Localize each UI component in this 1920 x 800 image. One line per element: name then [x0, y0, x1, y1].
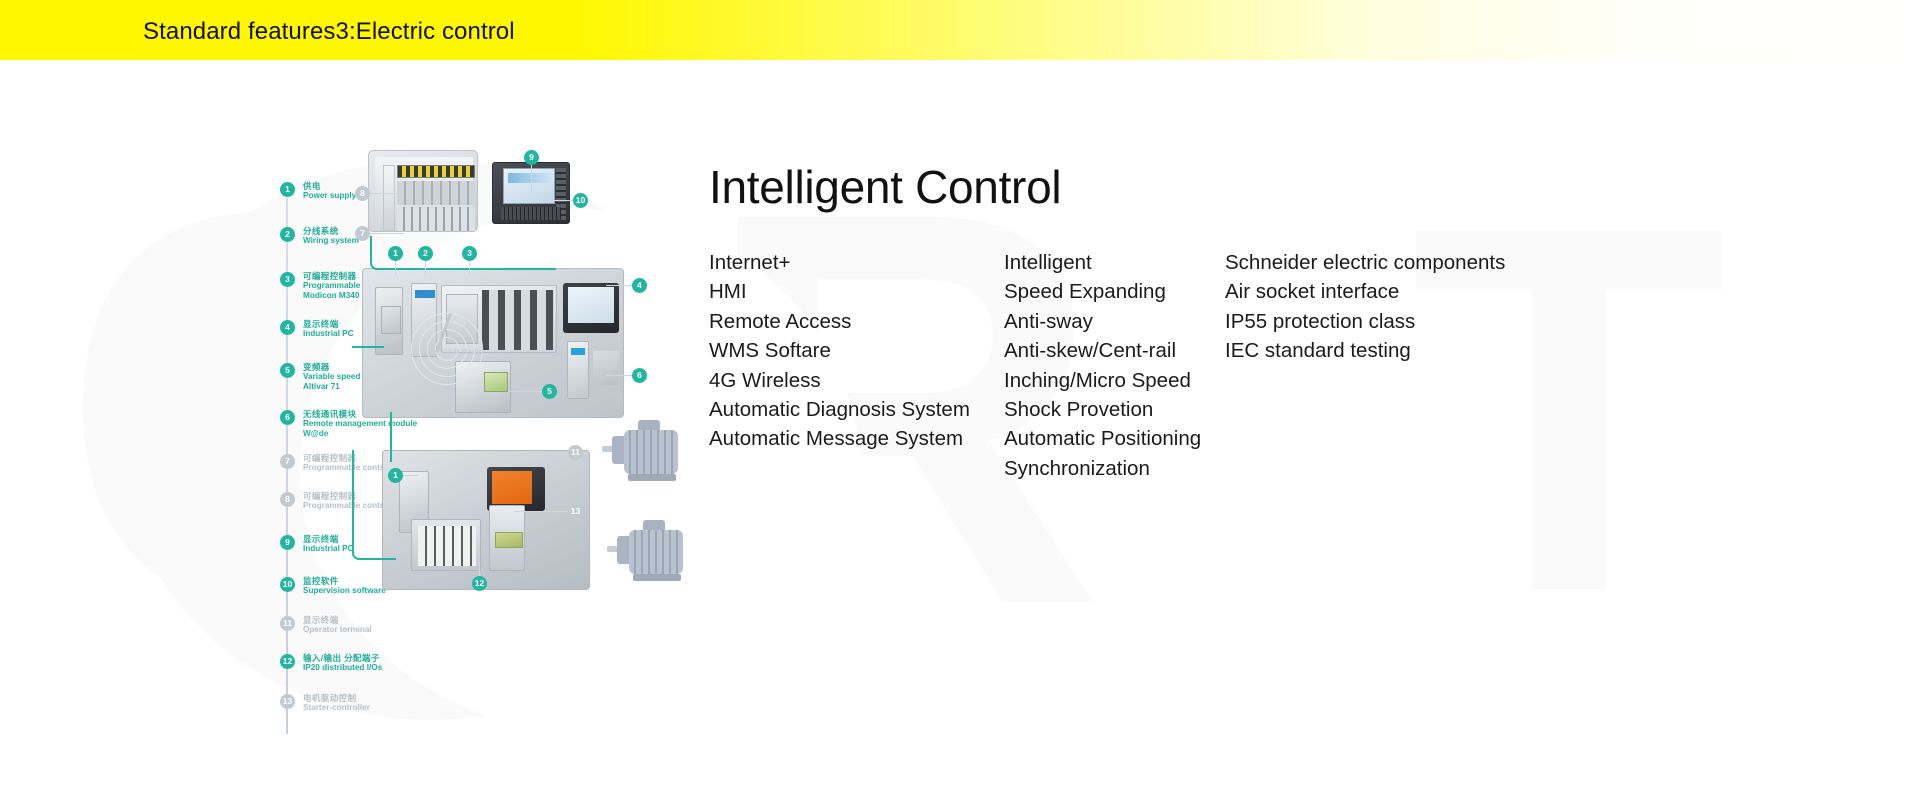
- feature-item: Inching/Micro Speed: [1004, 366, 1201, 395]
- lead-2: [425, 261, 426, 275]
- features-column-3: Schneider electric componentsAir socket …: [1225, 248, 1505, 366]
- legend-number-badge: 2: [280, 227, 295, 242]
- legend-number-badge: 10: [280, 577, 295, 592]
- motor-foot: [633, 574, 681, 581]
- diagram-callout-12: 12: [472, 576, 487, 591]
- legend-number-badge: 3: [280, 272, 295, 287]
- legend-number-badge: 1: [280, 182, 295, 197]
- legend-label-en: Wiring system: [303, 236, 359, 246]
- legend-label-en: Industrial PC: [303, 544, 354, 554]
- diagram-callout-10: 10: [573, 193, 588, 208]
- legend-number-badge: 9: [280, 535, 295, 550]
- legend-label-en: IP20 distributed I/Os: [303, 663, 382, 673]
- distributed-io-block: [411, 519, 481, 571]
- lead-9: [531, 165, 532, 193]
- cabinet-module-row-1: [397, 181, 475, 205]
- remote-management-module: [567, 341, 589, 399]
- cabinet-inner: [375, 157, 473, 227]
- legend-label-en: Remote management module W@de: [303, 419, 417, 439]
- diagram-callout-5: 5: [542, 384, 557, 399]
- feature-item: Anti-sway: [1004, 307, 1201, 336]
- motor-lower: [615, 520, 697, 584]
- cabinet-left-module: [383, 165, 395, 231]
- lead-10: [550, 200, 574, 201]
- feature-item: Automatic Diagnosis System: [709, 395, 970, 424]
- motor-foot: [628, 474, 676, 481]
- legend-number-badge: 13: [280, 694, 295, 709]
- lead-1: [395, 261, 396, 275]
- cable-left-entry: [352, 346, 384, 348]
- feature-item: Shock Provetion: [1004, 395, 1201, 424]
- lead-4: [606, 285, 632, 286]
- diagram-callout-11: 11: [568, 445, 583, 460]
- legend-label-en: Starter-controller: [303, 703, 370, 713]
- cable-panel-to-lower: [352, 450, 396, 560]
- starter-controller: [489, 505, 525, 571]
- lead-3: [469, 261, 470, 275]
- feature-item: Automatic Message System: [709, 424, 970, 453]
- lead-6: [606, 375, 632, 376]
- cable-vertical-link: [390, 412, 392, 462]
- feature-item: Remote Access: [709, 307, 970, 336]
- legend-number-badge: 7: [280, 454, 295, 469]
- cabinet-terminal-strip: [397, 165, 475, 178]
- plc-io-modules: [482, 290, 554, 350]
- diagram-callout-2: 2: [418, 246, 433, 261]
- feature-item: IP55 protection class: [1225, 307, 1505, 336]
- diagram-callout-4: 4: [632, 278, 647, 293]
- legend-label-en: Power supply: [303, 191, 356, 201]
- lead-11: [534, 452, 568, 453]
- feature-item: Anti-skew/Cent-rail: [1004, 336, 1201, 365]
- motor-upper: [610, 420, 692, 484]
- secondary-control-panel: [382, 450, 590, 590]
- top-control-cabinet: [368, 150, 478, 232]
- legend-number-badge: 5: [280, 363, 295, 378]
- feature-item: Internet+: [709, 248, 970, 277]
- feature-item: Air socket interface: [1225, 277, 1505, 306]
- slide-page: C R T Standard features3:Electric contro…: [0, 0, 1920, 800]
- legend-number-badge: 4: [280, 320, 295, 335]
- motor-body: [624, 430, 678, 474]
- legend-label-en: Industrial PC: [303, 329, 354, 339]
- antenna-junction-box: [593, 351, 619, 385]
- diagram-callout-6: 6: [632, 368, 647, 383]
- legend-number-badge: 11: [280, 616, 295, 631]
- gsm-radio-label: GSM Radio: [442, 347, 484, 356]
- feature-item: IEC standard testing: [1225, 336, 1505, 365]
- feature-item: WMS Softare: [709, 336, 970, 365]
- legend-number-badge: 8: [280, 492, 295, 507]
- diagram-callout-13: 13: [568, 504, 583, 519]
- diagram-callout-7: 7: [355, 226, 370, 241]
- diagram-callout-3: 3: [462, 246, 477, 261]
- lead-8: [370, 193, 404, 194]
- cabinet-module-row-2: [397, 207, 475, 231]
- feature-item: Schneider electric components: [1225, 248, 1505, 277]
- lead-5: [508, 391, 542, 392]
- diagram-callout-9: 9: [524, 150, 539, 165]
- watermark-letter-t: T: [1410, 150, 1728, 670]
- page-title: Intelligent Control: [709, 160, 1061, 214]
- feature-item: Speed Expanding: [1004, 277, 1201, 306]
- feature-item: 4G Wireless: [709, 366, 970, 395]
- header-title: Standard features3:Electric control: [143, 18, 515, 46]
- lead-12: [479, 562, 480, 576]
- legend-number-badge: 6: [280, 410, 295, 425]
- lead-7: [370, 233, 404, 234]
- feature-item: Intelligent: [1004, 248, 1201, 277]
- feature-item: Automatic Positioning: [1004, 424, 1201, 453]
- diagram-callout-8: 8: [355, 186, 370, 201]
- panel-hmi-display: [563, 283, 619, 333]
- legend-label-en: Operator terminal: [303, 625, 372, 635]
- diagram-callout-1: 1: [388, 468, 403, 483]
- main-control-panel: [362, 268, 624, 418]
- feature-item: Synchronization: [1004, 454, 1201, 483]
- features-column-1: Internet+HMIRemote AccessWMS Softare4G W…: [709, 248, 970, 454]
- features-column-2: IntelligentSpeed ExpandingAnti-swayAnti-…: [1004, 248, 1201, 483]
- feature-item: HMI: [709, 277, 970, 306]
- terminal-keyboard: [501, 207, 561, 220]
- variable-speed-drive: [375, 287, 403, 355]
- diagram-callout-1: 1: [388, 246, 403, 261]
- motor-body: [629, 530, 683, 574]
- terminal-screen: [503, 168, 555, 204]
- legend-label-en: Supervision software: [303, 586, 386, 596]
- legend-number-badge: 12: [280, 654, 295, 669]
- lead-13: [514, 511, 568, 512]
